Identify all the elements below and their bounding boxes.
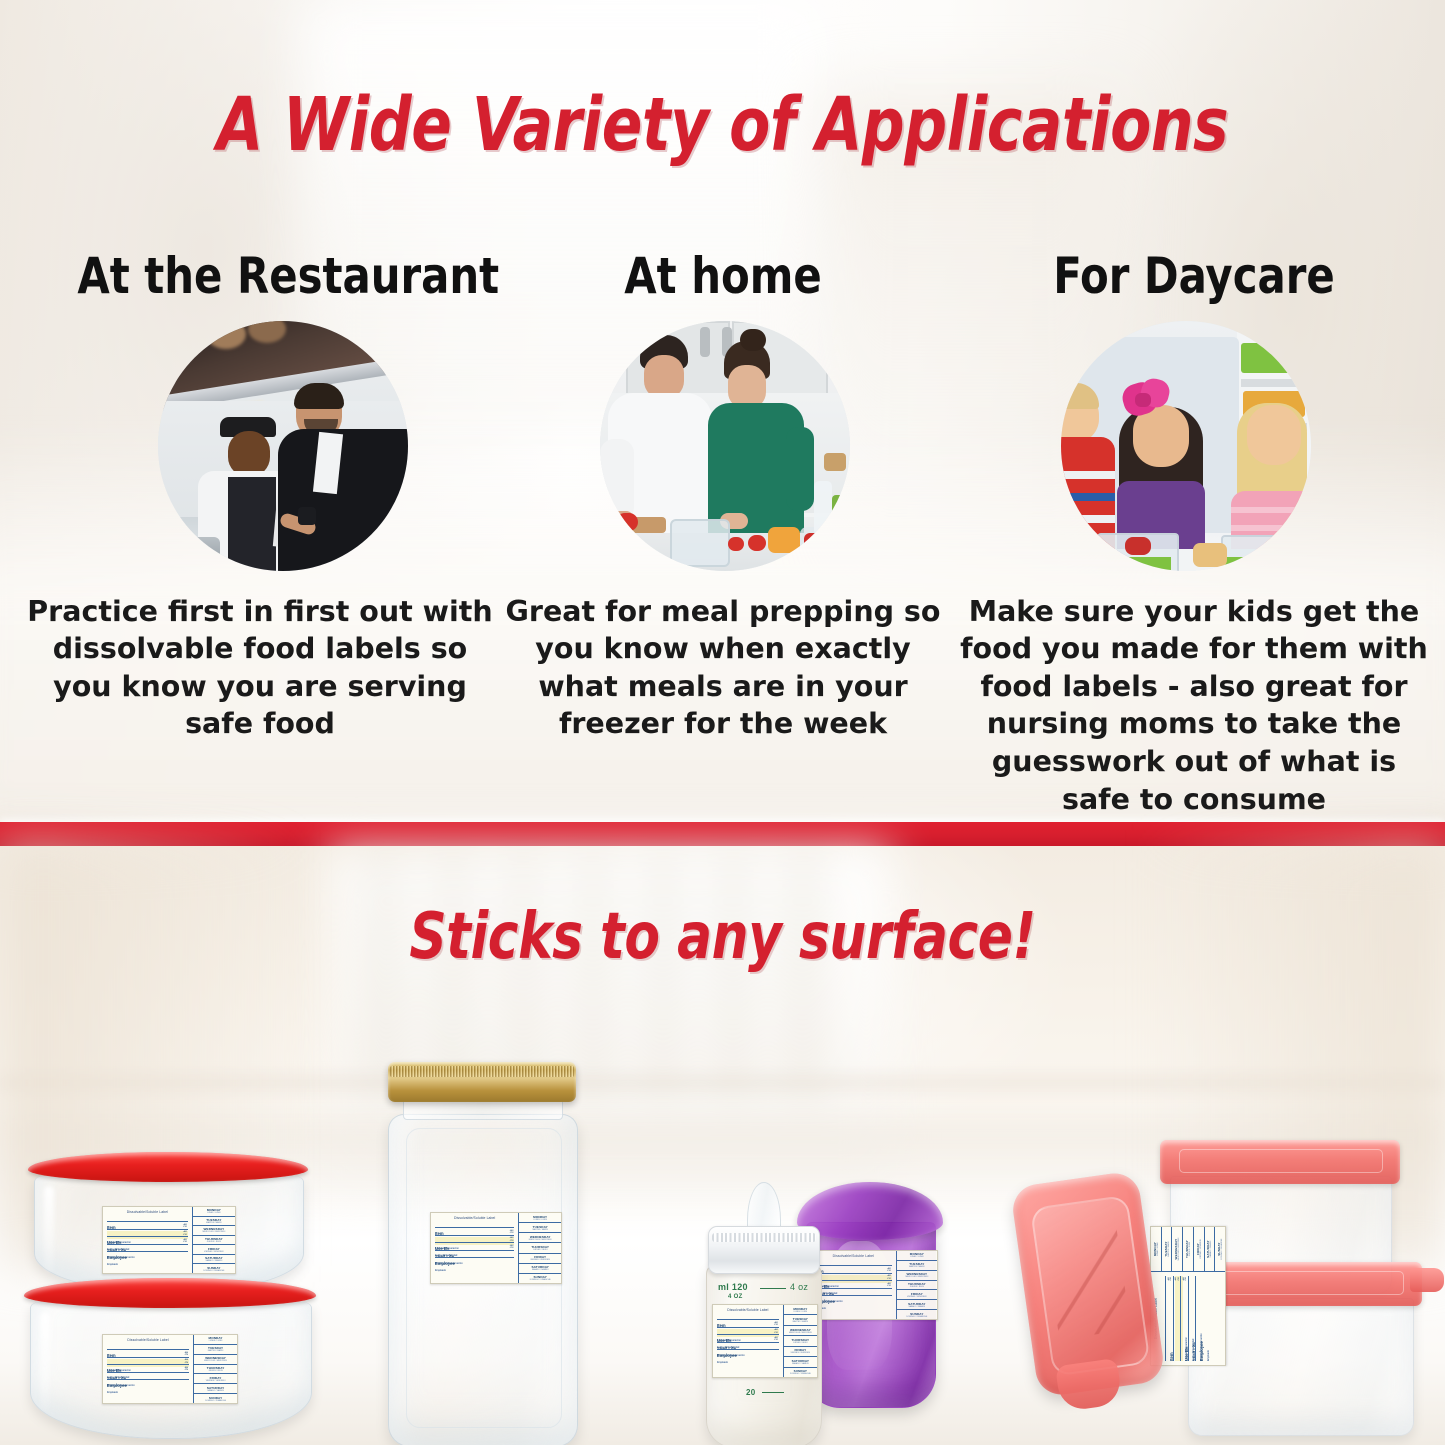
label-ampm-checkbox: ▫AM▫PM xyxy=(184,1359,188,1364)
label-weekday-subname: DOMINGO / DIMANCHE xyxy=(906,1316,927,1318)
label-weekday-subname: SABADO / SAMEDI xyxy=(792,1363,809,1365)
label-field-writeline xyxy=(107,1379,189,1380)
label-weekday-column: MONDAYLUNES / LUNDITUESDAYMARTES / MARDI… xyxy=(1151,1227,1225,1272)
label-weekday: TUESDAYMARTES / MARDI xyxy=(519,1223,561,1233)
label-weekday: FRIDAYVIERNES / VENDREDI xyxy=(193,1245,235,1255)
label-weekday: THURSDAYJUEVES / JEUDI xyxy=(1183,1227,1194,1271)
label-weekday-subname: MIERCOLES / MERCREDI xyxy=(789,1332,812,1334)
label-ampm-checkbox: ▫AM▫PM xyxy=(774,1329,778,1334)
marketing-image: A Wide Variety of Applications At the Re… xyxy=(0,0,1445,1445)
label-ampm-checkbox: ▫AM▫PM xyxy=(183,1224,187,1229)
label-header: Dissolvable/Soluble Label xyxy=(717,1308,779,1312)
label-weekday: SATURDAYSABADO / SAMEDI xyxy=(519,1264,561,1274)
label-field-writeline xyxy=(107,1244,188,1245)
label-field-writeline xyxy=(435,1235,514,1236)
baby-bottle-ml-sub: 4 OZ xyxy=(728,1294,743,1300)
label-weekday: FRIDAYVIERNES / VENDREDI xyxy=(1194,1227,1205,1271)
label-field-writeline xyxy=(1188,1276,1189,1361)
label-field-writeline xyxy=(815,1288,892,1289)
label-field-row: Shelf LifePeriodo de Conservación▫AM▫PM xyxy=(815,1283,892,1291)
label-header: Dissolvable/Soluble Label xyxy=(107,1210,188,1214)
label-weekday: TUESDAYMARTES / MARDI xyxy=(193,1217,235,1227)
label-weekday: SATURDAYSABADO / SAMEDI xyxy=(1205,1227,1216,1271)
label-field-writeline xyxy=(1180,1276,1181,1361)
label-weekday: SATURDAYSABADO / SAMEDI xyxy=(194,1384,237,1394)
label-weekday: WEDNESDAYMIERCOLES / MERCREDI xyxy=(784,1326,817,1336)
label-weekday: TUESDAYMARTES / MARDI xyxy=(1162,1227,1173,1271)
label-weekday: TUESDAYMARTES / MARDI xyxy=(784,1315,817,1325)
label-field-writeline xyxy=(107,1229,188,1230)
label-weekday-subname: MIERCOLES / MERCREDI xyxy=(204,1360,227,1362)
label-weekday-subname: MARTES / MARDI xyxy=(206,1222,222,1224)
baby-bottle-ml-mark: ml 120 xyxy=(718,1282,748,1292)
column-heading-daycare: For Daycare xyxy=(972,250,1417,303)
label-field-row: Prep DateFecha de Preparación▫AM▫PM xyxy=(815,1268,892,1276)
label-field-writeline xyxy=(815,1265,892,1266)
label-field-row: Shelf LifePeriodo de Conservación▫AM▫PM xyxy=(435,1245,514,1253)
sticks-title: Sticks to any surface! xyxy=(72,900,1373,974)
label-field-writeline xyxy=(107,1357,189,1358)
label-field-row: Use ByFecha de Caducidad▫AM▫PM xyxy=(815,1275,892,1283)
label-field-row: EmployeeEmpleado xyxy=(1190,1276,1198,1361)
label-on-formula-dispenser: Dissolvable/Soluble LabelItemProductoPre… xyxy=(810,1250,938,1320)
label-weekday-subname: MARTES / MARDI xyxy=(793,1321,809,1323)
label-weekday-subname: VIERNES / VENDREDI xyxy=(206,1380,226,1382)
label-ampm-checkbox: ▫AM▫PM xyxy=(510,1245,514,1250)
label-ampm-checkbox: ▫AM▫PM xyxy=(887,1283,891,1288)
restaurant-kitchen-photo xyxy=(158,321,408,571)
plastic-container-bottom-tab xyxy=(1410,1268,1444,1292)
label-weekday-subname: LUNES / LUNDI xyxy=(1157,1242,1159,1256)
label-weekday: THURSDAYJUEVES / JEUDI xyxy=(897,1281,937,1291)
label-weekday: SATURDAYSABADO / SAMEDI xyxy=(897,1300,937,1310)
application-column-restaurant: At the Restaurant xyxy=(20,250,500,743)
label-field-writeline xyxy=(717,1342,779,1343)
label-weekday: SUNDAYDOMINGO / DIMANCHE xyxy=(519,1274,561,1283)
label-weekday: SUNDAYDOMINGO / DIMANCHE xyxy=(784,1368,817,1377)
glass-bowl-top-lid xyxy=(28,1152,308,1182)
label-weekday: SUNDAYDOMINGO / DIMANCHE xyxy=(194,1394,237,1403)
label-weekday: THURSDAYJUEVES / JEUDI xyxy=(194,1365,237,1375)
label-ampm-checkbox: ▫AM▫PM xyxy=(887,1275,891,1280)
label-field-row: Prep DateFecha de Preparación▫AM▫PM xyxy=(435,1230,514,1238)
label-field-row: EmployeeEmpleado xyxy=(435,1252,514,1260)
label-weekday: SATURDAYSABADO / SAMEDI xyxy=(193,1255,235,1265)
label-field-row: Shelf LifePeriodo de Conservación▫AM▫PM xyxy=(107,1367,189,1375)
label-fields: Dissolvable/Soluble LabelItemProductoPre… xyxy=(431,1213,518,1283)
label-weekday-subname: MIERCOLES / MERCREDI xyxy=(905,1276,928,1278)
glass-jar-lid xyxy=(388,1062,576,1102)
column-heading-home: At home xyxy=(518,250,927,303)
label-field-row: EmployeeEmpleado xyxy=(107,1246,188,1254)
label-field-row: Prep DateFecha de Preparación▫AM▫PM xyxy=(107,1224,188,1232)
label-weekday: THURSDAYJUEVES / JEUDI xyxy=(784,1336,817,1346)
label-weekday-subname: LUNES / LUNDI xyxy=(910,1256,924,1258)
label-weekday: SATURDAYSABADO / SAMEDI xyxy=(784,1357,817,1367)
label-weekday-subname: JUEVES / JEUDI xyxy=(910,1286,924,1288)
label-weekday: FRIDAYVIERNES / VENDREDI xyxy=(519,1254,561,1264)
label-weekday-subname: SABADO / SAMEDI xyxy=(1210,1241,1212,1258)
label-weekday-subname: VIERNES / VENDREDI xyxy=(791,1352,811,1354)
label-weekday: TUESDAYMARTES / MARDI xyxy=(194,1345,237,1355)
label-weekday-subname: SABADO / SAMEDI xyxy=(532,1269,549,1271)
label-field-writeline xyxy=(815,1280,892,1281)
label-field-subname: Empleado xyxy=(107,1392,189,1395)
label-ampm-checkbox: ▫AM▫PM xyxy=(184,1367,188,1372)
label-header: Dissolvable/Soluble Label xyxy=(435,1216,514,1220)
label-field-subname: Empleado xyxy=(1208,1276,1211,1361)
label-weekday-subname: VIERNES / VENDREDI xyxy=(907,1296,927,1298)
label-fields: Dissolvable/Soluble LabelItemProductoPre… xyxy=(811,1251,896,1319)
label-field-row: ItemProducto xyxy=(107,1216,188,1224)
label-field-writeline xyxy=(717,1349,779,1350)
label-field-writeline xyxy=(1195,1276,1196,1361)
label-on-baby-bottle: Dissolvable/Soluble LabelItemProductoPre… xyxy=(712,1304,818,1378)
label-field-writeline xyxy=(1173,1276,1174,1361)
label-field-writeline xyxy=(435,1257,514,1258)
label-weekday-subname: DOMINGO / DIMANCHE xyxy=(1221,1239,1223,1260)
label-weekday-subname: JUEVES / JEUDI xyxy=(793,1342,807,1344)
label-field-row: Use ByFecha de Caducidad▫AM▫PM xyxy=(1175,1276,1183,1361)
glass-jar: Dissolvable/Soluble LabelItemProductoPre… xyxy=(388,1062,576,1445)
label-field-row: EmployeeEmpleado xyxy=(815,1290,892,1298)
label-ampm-checkbox: ▫AM▫PM xyxy=(184,1352,188,1357)
label-field-writeline xyxy=(435,1242,514,1243)
label-field-row: ItemProducto xyxy=(717,1314,779,1322)
label-weekday-subname: SABADO / SAMEDI xyxy=(207,1390,224,1392)
label-field-writeline xyxy=(435,1250,514,1251)
label-weekday: SUNDAYDOMINGO / DIMANCHE xyxy=(897,1310,937,1319)
label-weekday-column: MONDAYLUNES / LUNDITUESDAYMARTES / MARDI… xyxy=(193,1335,237,1403)
label-weekday-subname: LUNES / LUNDI xyxy=(207,1212,221,1214)
column-heading-restaurant: At the Restaurant xyxy=(77,250,484,303)
label-fields: Dissolvable/Soluble LabelItemProductoPre… xyxy=(713,1305,783,1377)
label-ampm-checkbox: ▫AM▫PM xyxy=(774,1322,778,1327)
baby-bottle-tick-lower xyxy=(762,1392,784,1393)
application-column-home: At home xyxy=(503,250,943,743)
glass-bowl-top: Dissolvable/Soluble LabelItemProductoPre… xyxy=(28,1152,308,1292)
label-weekday-subname: SABADO / SAMEDI xyxy=(206,1260,223,1262)
home-kitchen-photo xyxy=(600,321,850,571)
label-field-writeline xyxy=(1165,1276,1166,1361)
label-weekday-subname: DOMINGO / DIMANCHE xyxy=(203,1270,224,1272)
label-ampm-checkbox: ▫AM▫PM xyxy=(887,1268,891,1273)
label-ampm-checkbox: ▫AM▫PM xyxy=(183,1231,187,1236)
restaurant-photo-wrap xyxy=(158,321,408,571)
label-weekday-subname: MIERCOLES / MERCREDI xyxy=(1178,1238,1180,1261)
label-weekday-subname: JUEVES / JEUDI xyxy=(207,1241,221,1243)
column-body-home: Great for meal prepping so you know when… xyxy=(503,593,943,743)
label-field-row: EmployeeEmpleado xyxy=(107,1374,189,1382)
label-weekday: SUNDAYDOMINGO / DIMANCHE xyxy=(193,1264,235,1273)
label-weekday-subname: MIERCOLES / MERCREDI xyxy=(529,1239,552,1241)
glass-bowl-top-highlight xyxy=(44,1186,54,1273)
label-field-row: Prep DateFecha de Preparación▫AM▫PM xyxy=(717,1322,779,1330)
label-weekday-subname: LUNES / LUNDI xyxy=(209,1340,223,1342)
label-weekday: MONDAYLUNES / LUNDI xyxy=(519,1213,561,1223)
label-weekday-subname: MARTES / MARDI xyxy=(208,1350,224,1352)
label-field-writeline xyxy=(107,1364,189,1365)
label-weekday: MONDAYLUNES / LUNDI xyxy=(194,1335,237,1345)
label-field-row: Prep DateFecha de Preparación▫AM▫PM xyxy=(1168,1276,1176,1361)
label-ampm-checkbox: ▫AM▫PM xyxy=(183,1239,187,1244)
label-weekday-column: MONDAYLUNES / LUNDITUESDAYMARTES / MARDI… xyxy=(518,1213,561,1283)
label-weekday-subname: VIERNES / VENDREDI xyxy=(1200,1239,1202,1259)
glass-bowl-bottom-lid xyxy=(24,1278,316,1308)
label-field-writeline xyxy=(107,1372,189,1373)
label-header: Dissolvable/Soluble Label xyxy=(815,1254,892,1258)
label-on-glass-bowl-bottom: Dissolvable/Soluble LabelItemProductoPre… xyxy=(102,1334,238,1404)
label-weekday-subname: JUEVES / JEUDI xyxy=(1189,1242,1191,1256)
label-weekday: FRIDAYVIERNES / VENDREDI xyxy=(897,1290,937,1300)
baby-bottle: ml 120 4 OZ 4 oz 20 Dissolvable/Soluble … xyxy=(706,1182,820,1445)
label-field-writeline xyxy=(717,1334,779,1335)
label-weekday: WEDNESDAYMIERCOLES / MERCREDI xyxy=(897,1271,937,1281)
label-weekday: MONDAYLUNES / LUNDI xyxy=(193,1207,235,1217)
label-on-glass-jar: Dissolvable/Soluble LabelItemProductoPre… xyxy=(430,1212,562,1284)
label-weekday-subname: LUNES / LUNDI xyxy=(533,1219,547,1221)
label-ampm-checkbox: ▫AM▫PM xyxy=(1168,1277,1173,1281)
label-field-writeline xyxy=(107,1349,189,1350)
label-weekday: WEDNESDAYMIERCOLES / MERCREDI xyxy=(1172,1227,1183,1271)
label-field-row: Prep DateFecha de Preparación▫AM▫PM xyxy=(107,1352,189,1360)
label-field-subname: Empleado xyxy=(435,1270,514,1273)
plastic-container-top-lid xyxy=(1160,1140,1400,1184)
label-weekday: WEDNESDAYMIERCOLES / MERCREDI xyxy=(194,1355,237,1365)
label-weekday: TUESDAYMARTES / MARDI xyxy=(897,1261,937,1271)
baby-bottle-collar xyxy=(708,1226,819,1274)
label-weekday-subname: JUEVES / JEUDI xyxy=(533,1249,547,1251)
baby-bottle-base-mark: 20 xyxy=(746,1388,756,1397)
label-field-row: ItemProducto xyxy=(107,1344,189,1352)
label-weekday-subname: DOMINGO / DIMANCHE xyxy=(790,1373,811,1375)
label-field-row: EmployeeEmpleado xyxy=(717,1344,779,1352)
section-divider xyxy=(0,822,1445,846)
label-field-writeline xyxy=(107,1221,188,1222)
label-field-row: ItemProducto xyxy=(815,1260,892,1268)
label-fields: Dissolvable/Soluble LabelItemProductoPre… xyxy=(103,1335,193,1403)
baby-bottle-tick-upper xyxy=(760,1288,786,1289)
label-weekday-subname: LUNES / LUNDI xyxy=(794,1311,808,1313)
label-ampm-checkbox: ▫AM▫PM xyxy=(1175,1277,1180,1281)
label-field-writeline xyxy=(717,1327,779,1328)
label-field-subname: Empleado xyxy=(815,1308,892,1311)
label-weekday: THURSDAYJUEVES / JEUDI xyxy=(519,1243,561,1253)
label-field-row: Use ByFecha de Caducidad▫AM▫PM xyxy=(717,1329,779,1337)
label-field-subname: Empleado xyxy=(107,1264,188,1267)
label-weekday-column: MONDAYLUNES / LUNDITUESDAYMARTES / MARDI… xyxy=(192,1207,235,1273)
label-field-row: Use ByFecha de Caducidad▫AM▫PM xyxy=(435,1237,514,1245)
label-field-row: Use ByFecha de Caducidad▫AM▫PM xyxy=(107,1359,189,1367)
label-weekday-subname: JUEVES / JEUDI xyxy=(208,1370,222,1372)
label-field-row: ItemProducto xyxy=(435,1222,514,1230)
label-field-row: Use ByFecha de Caducidad▫AM▫PM xyxy=(107,1231,188,1239)
label-field-writeline xyxy=(107,1251,188,1252)
daycare-photo-wrap xyxy=(1061,321,1311,571)
label-field-row: Shelf LifePeriodo de Conservación▫AM▫PM xyxy=(107,1239,188,1247)
label-ampm-checkbox: ▫AM▫PM xyxy=(510,1230,514,1235)
main-title: A Wide Variety of Applications xyxy=(72,82,1373,168)
label-weekday-subname: VIERNES / VENDREDI xyxy=(204,1251,224,1253)
label-field-subname: Empleado xyxy=(717,1362,779,1365)
label-weekday: MONDAYLUNES / LUNDI xyxy=(784,1305,817,1315)
label-field-writeline xyxy=(815,1273,892,1274)
application-column-daycare: For Daycare xyxy=(955,250,1433,818)
label-fields: Dissolvable/Soluble LabelItemProductoPre… xyxy=(103,1207,192,1273)
label-weekday-subname: DOMINGO / DIMANCHE xyxy=(530,1279,551,1281)
label-weekday-subname: MARTES / MARDI xyxy=(1168,1241,1170,1257)
label-weekday-column: MONDAYLUNES / LUNDITUESDAYMARTES / MARDI… xyxy=(783,1305,817,1377)
label-weekday-subname: MARTES / MARDI xyxy=(532,1229,548,1231)
column-body-restaurant: Practice first in first out with dissolv… xyxy=(20,593,500,743)
label-weekday-subname: VIERNES / VENDREDI xyxy=(530,1259,550,1261)
label-header: Dissolvable/Soluble Label xyxy=(107,1338,189,1342)
label-weekday: THURSDAYJUEVES / JEUDI xyxy=(193,1236,235,1246)
daycare-children-photo xyxy=(1061,321,1311,571)
label-weekday: FRIDAYVIERNES / VENDREDI xyxy=(194,1374,237,1384)
label-field-writeline xyxy=(717,1319,779,1320)
label-ampm-checkbox: ▫AM▫PM xyxy=(774,1337,778,1342)
glass-bowl-bottom-highlight xyxy=(40,1312,50,1411)
label-on-plastic-container: Dissolvable/Soluble LabelItemProductoPre… xyxy=(1150,1226,1226,1366)
column-body-daycare: Make sure your kids get the food you mad… xyxy=(955,593,1433,819)
label-field-row: Shelf LifePeriodo de Conservación▫AM▫PM xyxy=(717,1337,779,1345)
baby-bottle-oz-mark: 4 oz xyxy=(790,1282,808,1292)
label-on-glass-bowl-top: Dissolvable/Soluble LabelItemProductoPre… xyxy=(102,1206,236,1274)
label-weekday: WEDNESDAYMIERCOLES / MERCREDI xyxy=(519,1233,561,1243)
label-ampm-checkbox: ▫AM▫PM xyxy=(1183,1277,1188,1281)
label-weekday-subname: SABADO / SAMEDI xyxy=(908,1306,925,1308)
label-weekday: SUNDAYDOMINGO / DIMANCHE xyxy=(1215,1227,1225,1271)
home-photo-wrap xyxy=(600,321,850,571)
label-weekday: WEDNESDAYMIERCOLES / MERCREDI xyxy=(193,1226,235,1236)
label-field-row: Shelf LifePeriodo de Conservación▫AM▫PM xyxy=(1183,1276,1191,1361)
label-weekday-subname: DOMINGO / DIMANCHE xyxy=(205,1400,226,1402)
label-field-writeline xyxy=(435,1227,514,1228)
label-weekday-column: MONDAYLUNES / LUNDITUESDAYMARTES / MARDI… xyxy=(896,1251,937,1319)
label-weekday: FRIDAYVIERNES / VENDREDI xyxy=(784,1347,817,1357)
label-weekday-subname: MARTES / MARDI xyxy=(909,1266,925,1268)
label-weekday: MONDAYLUNES / LUNDI xyxy=(1151,1227,1162,1271)
label-field-writeline xyxy=(815,1295,892,1296)
label-weekday-subname: MIERCOLES / MERCREDI xyxy=(202,1231,225,1233)
label-field-writeline xyxy=(107,1236,188,1237)
glass-bowl-bottom: Dissolvable/Soluble LabelItemProductoPre… xyxy=(24,1278,316,1438)
label-weekday: MONDAYLUNES / LUNDI xyxy=(897,1251,937,1261)
label-ampm-checkbox: ▫AM▫PM xyxy=(510,1237,514,1242)
